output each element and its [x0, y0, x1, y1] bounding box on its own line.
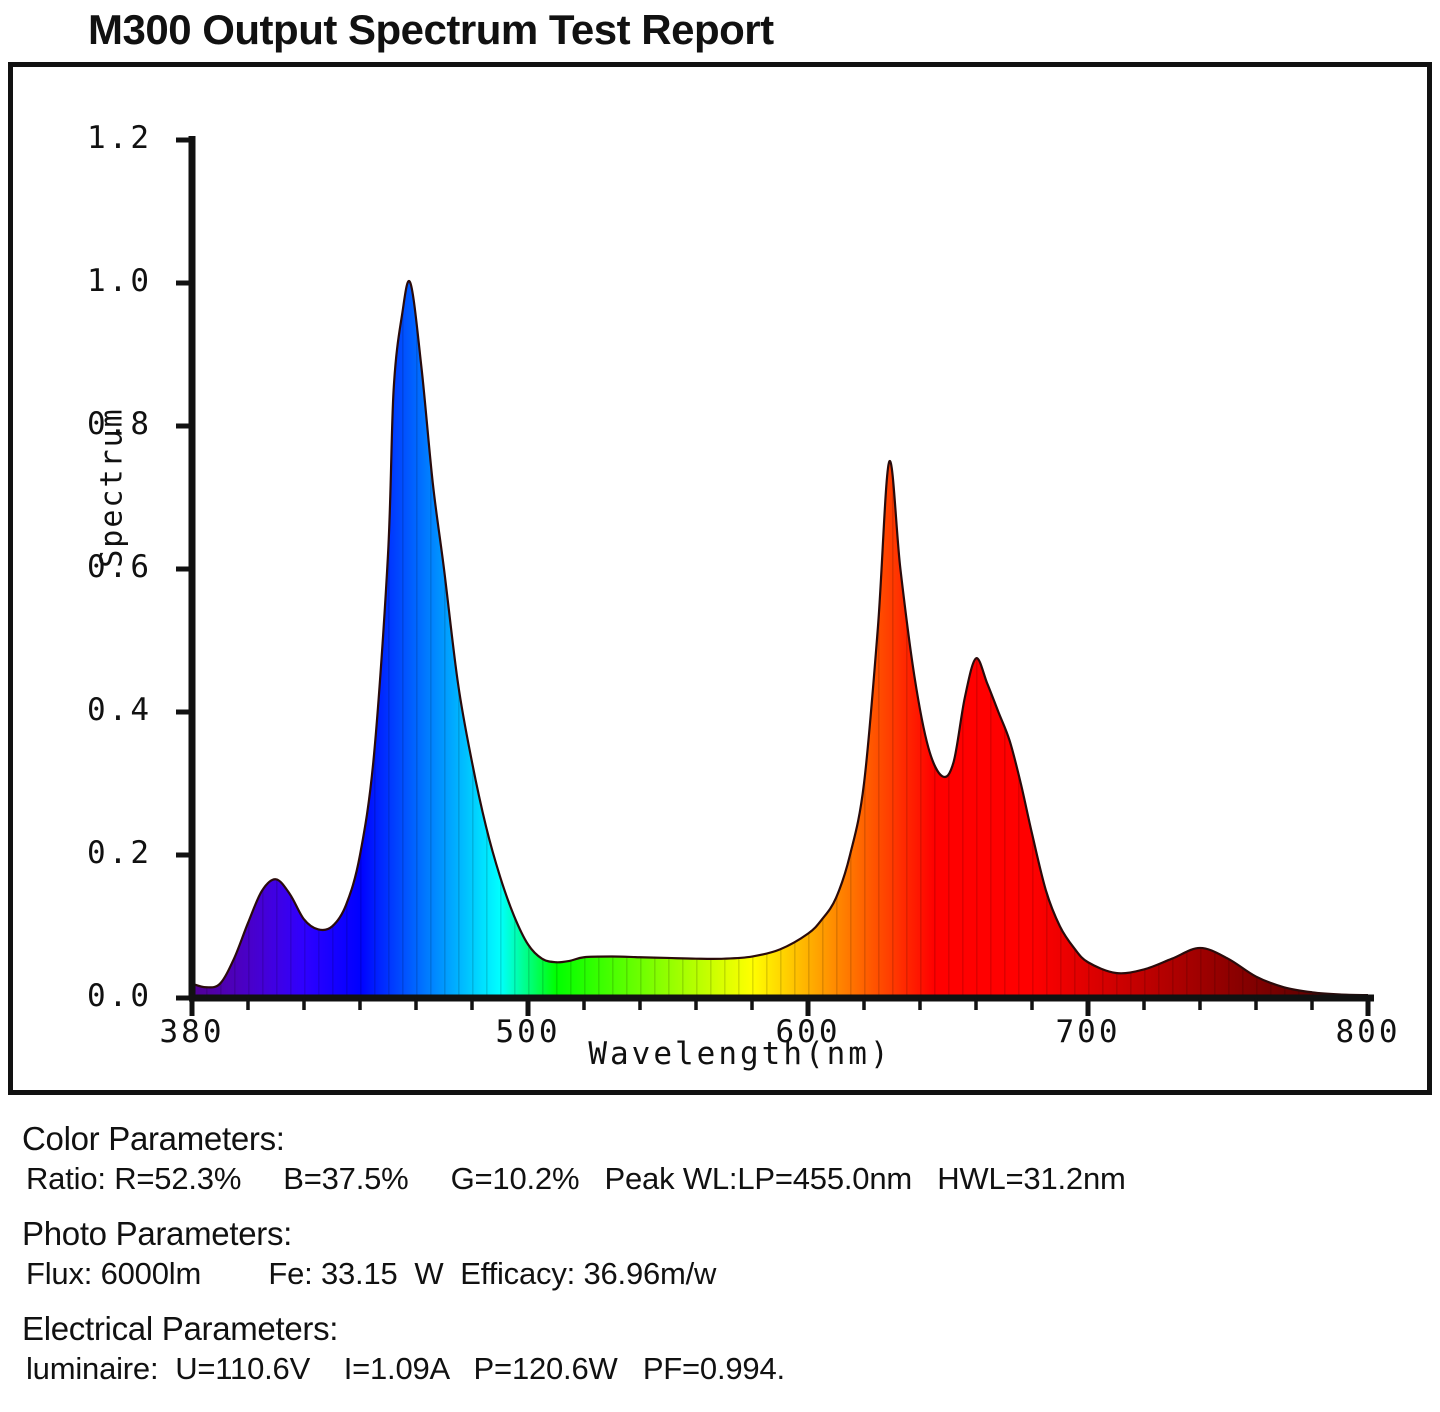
- y-tick-label: 0.4: [32, 692, 152, 728]
- electrical-parameters-heading: Electrical Parameters:: [22, 1308, 1422, 1349]
- x-tick-label: 380: [122, 1014, 262, 1050]
- color-parameters-heading: Color Parameters:: [22, 1118, 1422, 1159]
- y-tick-label: 1.2: [32, 120, 152, 156]
- y-tick-label: 1.0: [32, 263, 152, 299]
- color-parameters-group: Color Parameters: Ratio: R=52.3% B=37.5%…: [22, 1118, 1422, 1199]
- photo-parameters-heading: Photo Parameters:: [22, 1213, 1422, 1254]
- x-tick-label: 500: [458, 1014, 598, 1050]
- y-tick-label: 0.2: [32, 835, 152, 871]
- spectrum-area-fill: [192, 281, 1368, 998]
- parameters-section: Color Parameters: Ratio: R=52.3% B=37.5%…: [22, 1118, 1422, 1403]
- electrical-parameters-group: Electrical Parameters: luminaire: U=110.…: [22, 1308, 1422, 1389]
- x-tick-label: 800: [1298, 1014, 1438, 1050]
- chart-plot-area: [0, 0, 1440, 1100]
- photo-parameters-group: Photo Parameters: Flux: 6000lm Fe: 33.15…: [22, 1213, 1422, 1294]
- spectrum-test-report-page: M300 Output Spectrum Test Report Spectru…: [0, 0, 1440, 1412]
- spectrum-chart-svg: [0, 0, 1440, 1100]
- electrical-parameters-line: luminaire: U=110.6V I=1.09A P=120.6W PF=…: [22, 1349, 1422, 1389]
- y-tick-label: 0.6: [32, 549, 152, 585]
- photo-parameters-line: Flux: 6000lm Fe: 33.15 W Efficacy: 36.96…: [22, 1254, 1422, 1294]
- color-parameters-line: Ratio: R=52.3% B=37.5% G=10.2% Peak WL:L…: [22, 1159, 1422, 1199]
- y-tick-label: 0.8: [32, 406, 152, 442]
- y-tick-label: 0.0: [32, 978, 152, 1014]
- x-tick-label: 700: [1018, 1014, 1158, 1050]
- x-tick-label: 600: [738, 1014, 878, 1050]
